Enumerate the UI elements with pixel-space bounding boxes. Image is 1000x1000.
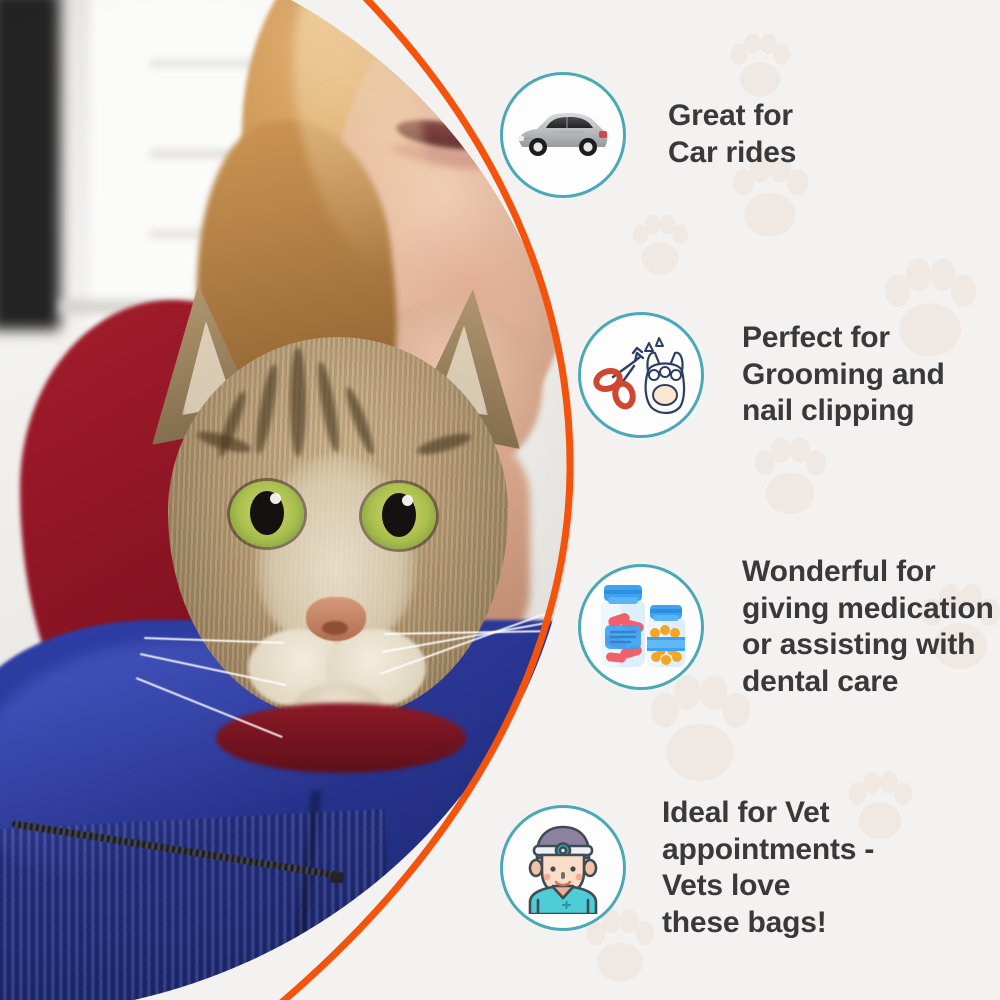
veterinarian-icon [500, 805, 626, 931]
feature-row-vet: Ideal for Vet appointments - Vets love t… [500, 795, 874, 941]
cat-nose-tip [322, 621, 348, 635]
cat-eye-glint-left [270, 493, 281, 504]
feature-label-grooming: Perfect for Grooming and nail clipping [742, 320, 945, 430]
cat-stripe [290, 347, 306, 457]
cat-neck-shadow [216, 703, 466, 773]
whiteboard-line [150, 60, 260, 67]
car-icon [500, 72, 626, 198]
pill-bottles-icon [578, 564, 704, 690]
feature-row-grooming: Perfect for Grooming and nail clipping [578, 312, 945, 438]
feature-label-car-rides: Great for Car rides [668, 98, 796, 171]
feature-label-medication: Wonderful for giving medication or assis… [742, 554, 994, 700]
feature-row-car-rides: Great for Car rides [500, 72, 796, 198]
zipper-pull [330, 872, 344, 883]
cat-subject [130, 285, 560, 755]
cat-eye-glint-right [402, 495, 413, 506]
feature-label-vet: Ideal for Vet appointments - Vets love t… [662, 795, 874, 941]
nail-clippers-paw-icon [578, 312, 704, 438]
clinic-dark-cabinet [0, 0, 60, 330]
infographic-canvas: Great for Car rides [0, 0, 1000, 1000]
feature-row-medication: Wonderful for giving medication or assis… [578, 554, 994, 700]
